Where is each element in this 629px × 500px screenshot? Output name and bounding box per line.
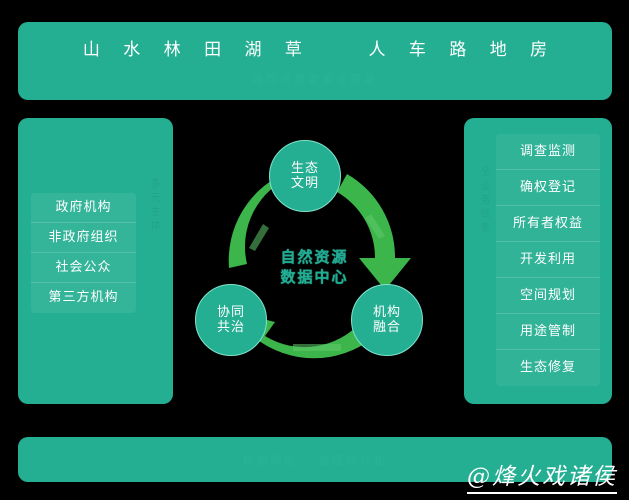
cycle-node-right-line1: 机构 [373, 305, 401, 320]
cycle-node-top-line2: 文明 [291, 176, 319, 191]
infographic-root: 山 水 林 田 湖 草 人 车 路 地 房 自然资源要素全覆盖 多元主体 政府机… [0, 0, 629, 500]
header-title: 山 水 林 田 湖 草 人 车 路 地 房 [74, 35, 556, 60]
left-panel-item[interactable]: 政府机构 [31, 193, 136, 223]
right-panel-item[interactable]: 空间规划 [496, 278, 600, 314]
cycle-node-right[interactable]: 机构 融合 [351, 284, 423, 356]
left-panel-item[interactable]: 社会公众 [31, 253, 136, 283]
right-panel-item[interactable]: 确权登记 [496, 170, 600, 206]
cycle-node-top[interactable]: 生态 文明 [269, 140, 341, 212]
right-panel-vertical-label: 全业务链条 [476, 166, 491, 236]
left-panel-item[interactable]: 第三方机构 [31, 283, 136, 313]
header-subtitle: 自然资源要素全覆盖 [252, 71, 378, 87]
left-panel-item-list: 政府机构 非政府组织 社会公众 第三方机构 [31, 193, 136, 313]
cycle-node-left-line2: 共治 [217, 320, 245, 335]
right-panel-item[interactable]: 开发利用 [496, 242, 600, 278]
cycle-node-top-line1: 生态 [291, 161, 319, 176]
left-panel-item[interactable]: 非政府组织 [31, 223, 136, 253]
cycle-node-left[interactable]: 协同 共治 [195, 284, 267, 356]
right-panel-item[interactable]: 生态修复 [496, 350, 600, 386]
left-panel-vertical-label: 多元主体 [146, 178, 161, 234]
cycle-center-line1: 自然资源 [249, 248, 380, 268]
left-panel: 多元主体 政府机构 非政府组织 社会公众 第三方机构 [18, 118, 173, 404]
right-panel-item[interactable]: 调查监测 [496, 134, 600, 170]
watermark: @烽火戏诸侯 [467, 457, 617, 494]
cycle-center-label: 自然资源 数据中心 [249, 248, 380, 287]
cycle-center-line2: 数据中心 [249, 268, 380, 288]
cycle-node-right-line2: 融合 [373, 320, 401, 335]
right-panel-item-list: 调查监测 确权登记 所有者权益 开发利用 空间规划 用途管制 生态修复 [496, 134, 600, 386]
right-panel: 全业务链条 调查监测 确权登记 所有者权益 开发利用 空间规划 用途管制 生态修… [464, 118, 612, 404]
cycle-diagram: 生态 文明 机构 融合 协同 共治 自然资源 数据中心 [189, 138, 440, 394]
header-bar: 山 水 林 田 湖 草 人 车 路 地 房 自然资源要素全覆盖 [18, 22, 612, 100]
footer-text: 数据赋能 治理现代化 [242, 452, 388, 468]
right-panel-item[interactable]: 所有者权益 [496, 206, 600, 242]
cycle-node-left-line1: 协同 [217, 305, 245, 320]
right-panel-item[interactable]: 用途管制 [496, 314, 600, 350]
